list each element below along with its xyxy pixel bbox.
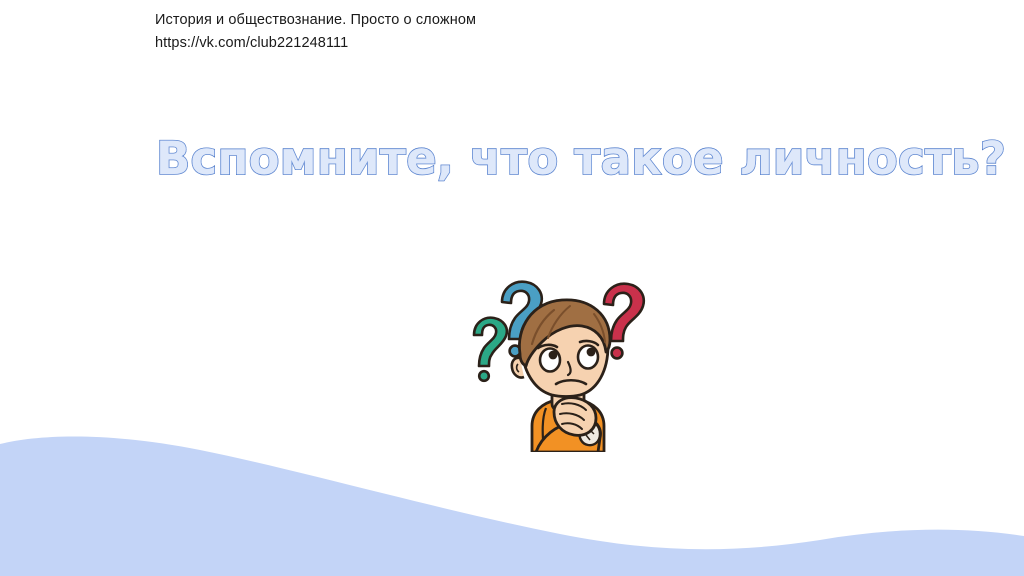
- header-channel-name: История и обществознание. Просто о сложн…: [155, 9, 775, 32]
- thinking-boy-illustration: [458, 262, 658, 452]
- header-credit-block: История и обществознание. Просто о сложн…: [155, 9, 775, 55]
- boy-head: [519, 300, 610, 397]
- header-channel-url: https://vk.com/club221248111: [155, 32, 775, 55]
- page-title: Вспомните, что такое личность?: [156, 130, 916, 192]
- question-mark-green-icon: [474, 318, 507, 381]
- page-title-text: Вспомните, что такое личность?: [156, 130, 916, 188]
- boy-hand: [554, 398, 596, 436]
- slide-canvas: История и обществознание. Просто о сложн…: [0, 0, 1024, 576]
